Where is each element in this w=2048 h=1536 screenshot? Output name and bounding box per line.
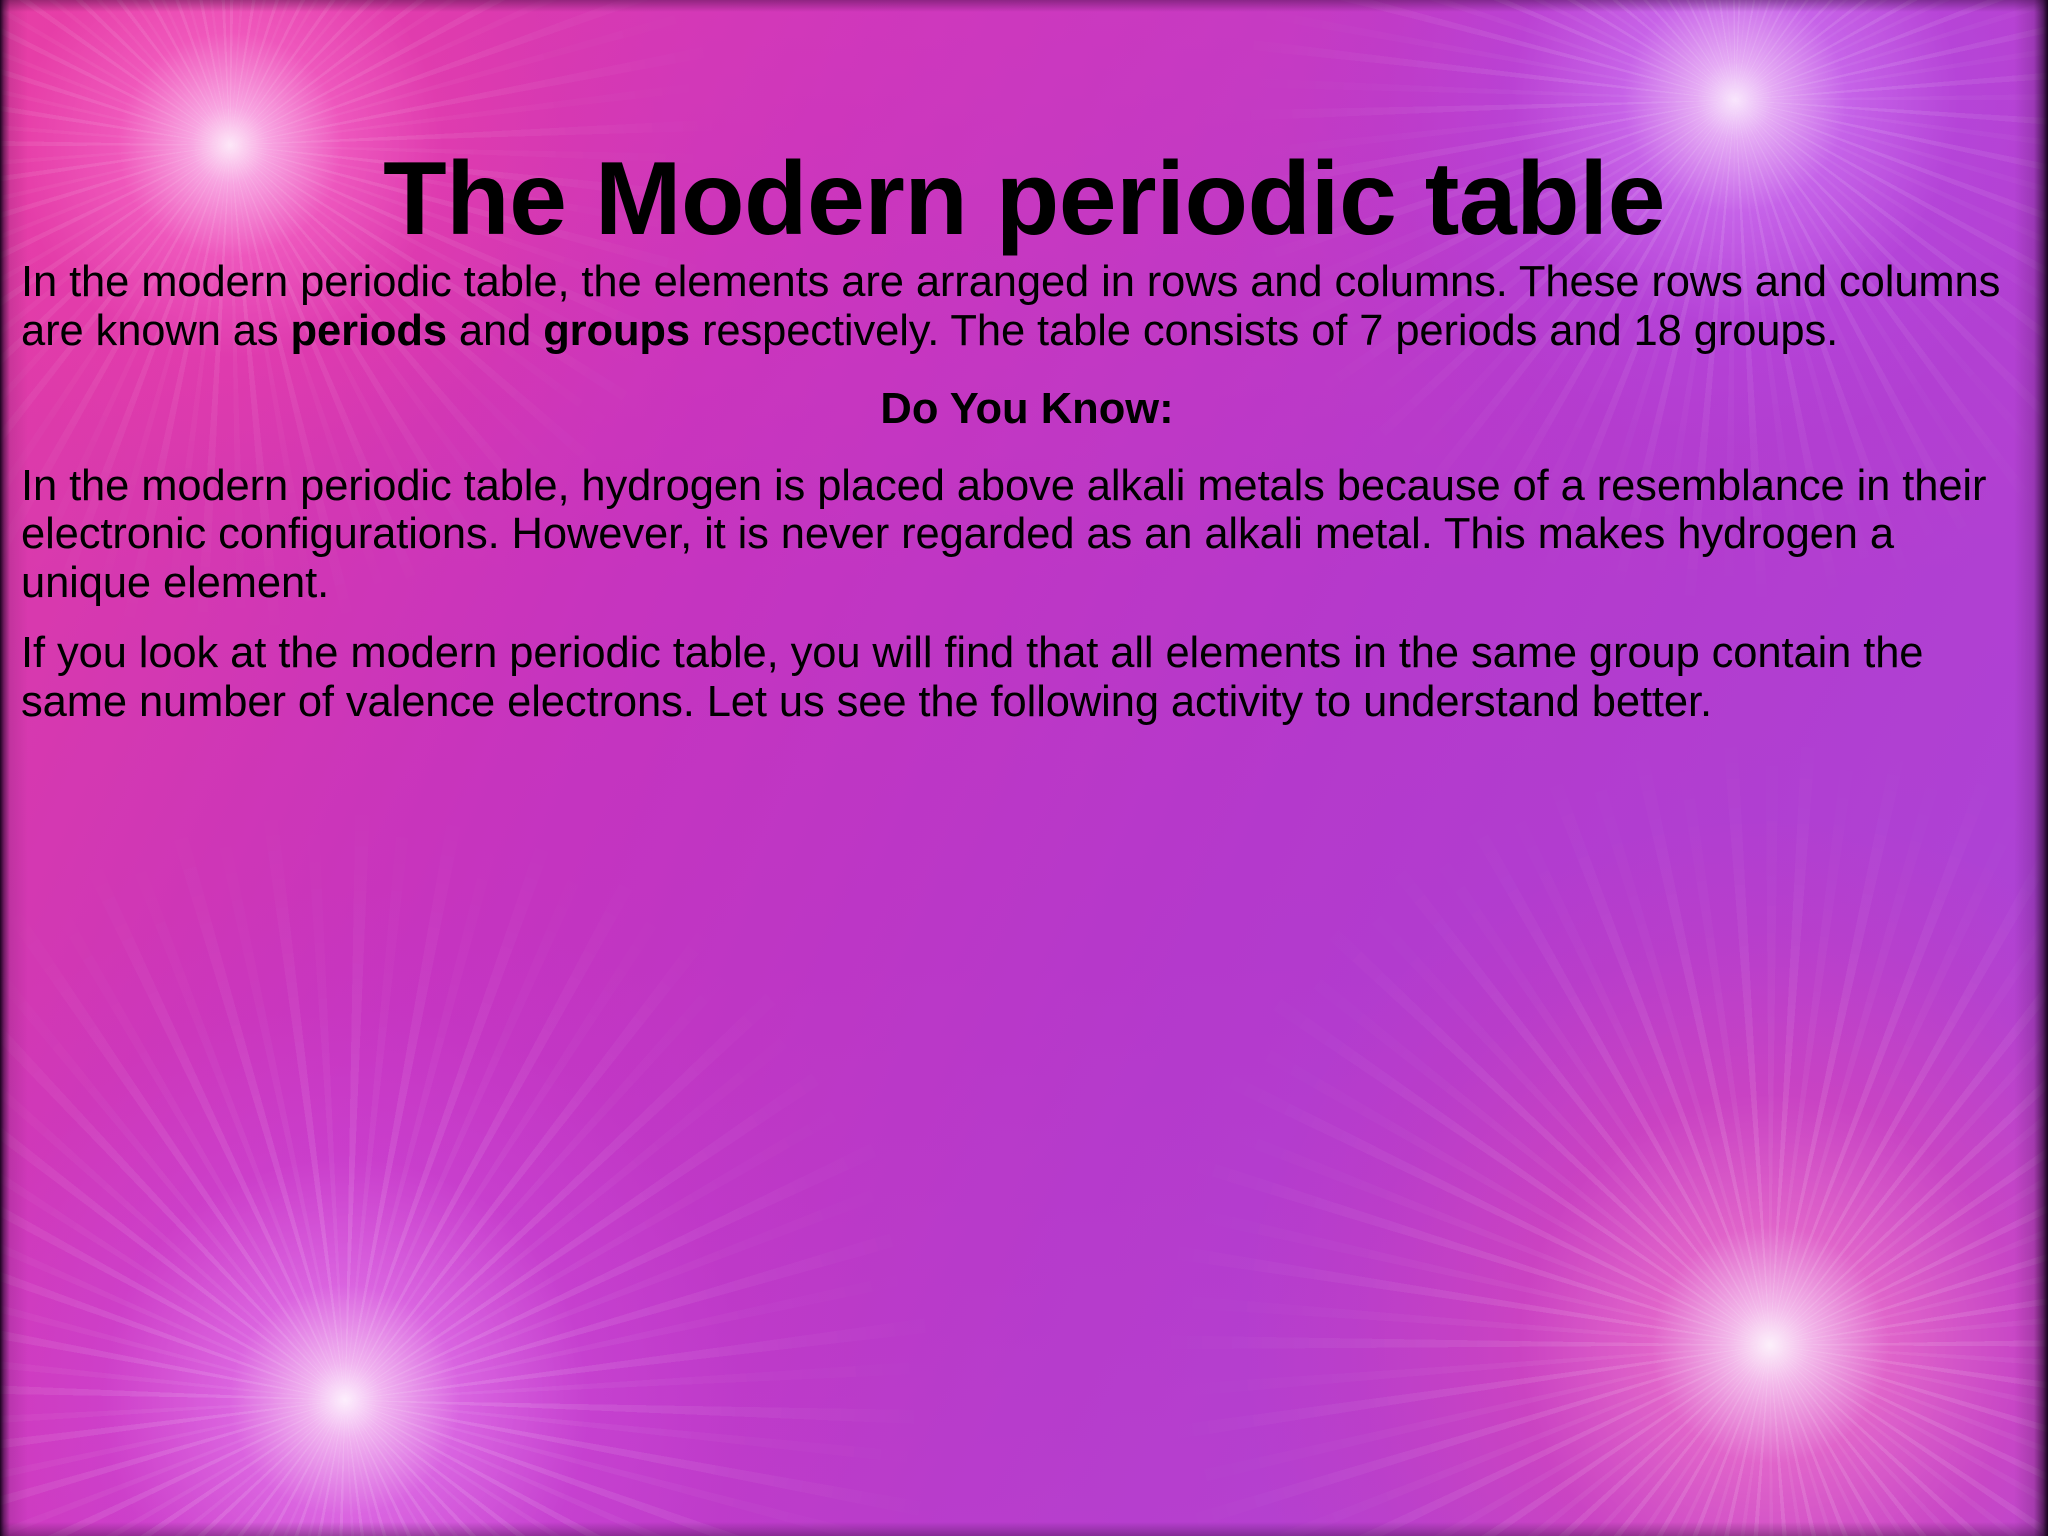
term-periods: periods [291,307,447,355]
intro-text-part-3: respectively. The table consists of 7 pe… [690,307,1838,355]
term-groups: groups [543,307,690,355]
presentation-slide: The Modern periodic table In the modern … [0,0,2048,1536]
slide-content: The Modern periodic table In the modern … [0,0,2048,1536]
slide-title: The Modern periodic table [0,144,2048,254]
do-you-know-subheading: Do You Know: [21,385,2033,434]
intro-text-part-2: and [447,307,543,355]
paragraph-valence-electrons: If you look at the modern periodic table… [21,629,2033,726]
paragraph-hydrogen: In the modern periodic table, hydrogen i… [21,462,2033,608]
paragraph-intro: In the modern periodic table, the elemen… [21,258,2033,355]
slide-body: In the modern periodic table, the elemen… [21,258,2033,748]
